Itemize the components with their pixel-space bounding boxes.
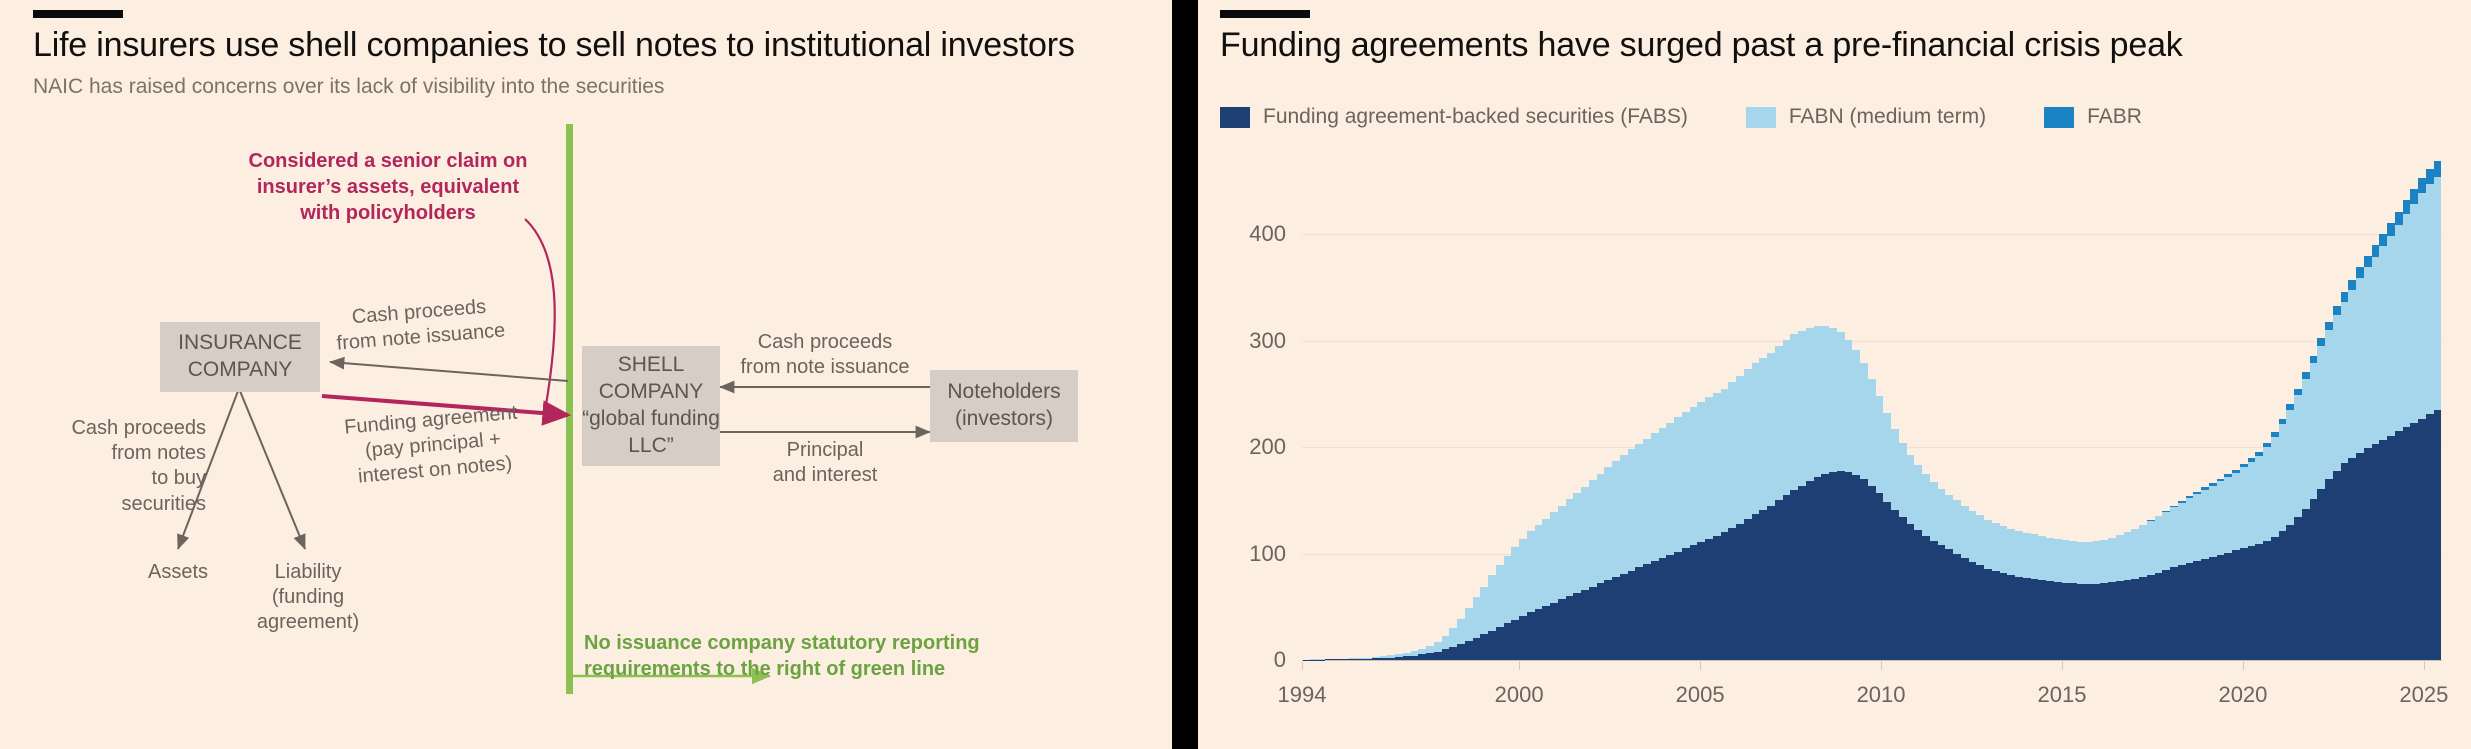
bar-segment xyxy=(2403,214,2411,427)
bar-segment xyxy=(2333,471,2341,660)
table-row xyxy=(1558,160,1566,660)
bar-segment xyxy=(1659,428,1667,558)
bar-segment xyxy=(1790,490,1798,660)
bar-segment xyxy=(1845,472,1853,660)
bar-segment xyxy=(1798,331,1806,485)
bar-segment xyxy=(1790,334,1798,489)
bar-segment xyxy=(2310,499,2318,660)
bar-segment xyxy=(2434,410,2442,660)
bar-segment xyxy=(2341,302,2349,464)
table-row xyxy=(2116,160,2124,660)
bar-segment xyxy=(2054,539,2062,582)
bar-segment xyxy=(2170,507,2178,568)
bar-segment xyxy=(1442,636,1450,650)
x-axis-tickmark xyxy=(2424,660,2425,670)
table-row xyxy=(2286,160,2294,660)
bar-segment xyxy=(2410,423,2418,660)
bar-segment xyxy=(2116,581,2124,660)
label-cash-proceeds-note-issuance-right: Cash proceeds from note issuance xyxy=(725,330,925,380)
bar-segment xyxy=(1690,545,1698,660)
table-row xyxy=(2038,160,2046,660)
table-row xyxy=(1628,160,1636,660)
bar-segment xyxy=(1651,433,1659,561)
annotation-senior-claim: Considered a senior claim on insurer’s a… xyxy=(238,148,538,226)
bar-segment xyxy=(1519,616,1527,660)
bar-segment xyxy=(1938,545,1946,660)
bar-segment xyxy=(2364,256,2372,267)
bar-segment xyxy=(1387,658,1395,660)
legend-item-fabs[interactable]: Funding agreement-backed securities (FAB… xyxy=(1220,105,1688,129)
bar-segment xyxy=(1736,376,1744,524)
bar-segment xyxy=(1449,628,1457,647)
bar-segment xyxy=(1806,481,1814,660)
x-axis-tick-2010: 2010 xyxy=(1857,682,1906,708)
bar-segment xyxy=(2379,234,2387,246)
table-row xyxy=(1496,160,1504,660)
table-row xyxy=(1961,160,1969,660)
bar-segment xyxy=(1922,474,1930,536)
bar-segment xyxy=(2186,498,2194,563)
bar-segment xyxy=(2085,584,2093,660)
bar-segment xyxy=(1449,647,1457,660)
bar-segment xyxy=(1821,326,1829,474)
legend-item-fabn[interactable]: FABN (medium term) xyxy=(1746,105,1986,129)
table-row xyxy=(1403,160,1411,660)
table-row xyxy=(1612,160,1620,660)
table-row xyxy=(1411,160,1419,660)
bar-segment xyxy=(1783,495,1791,660)
table-row xyxy=(1744,160,1752,660)
table-row xyxy=(1837,160,1845,660)
bar-segment xyxy=(2434,177,2442,410)
bar-segment xyxy=(2364,267,2372,448)
table-row xyxy=(2248,160,2256,660)
bar-segment xyxy=(1775,346,1783,500)
bar-segment xyxy=(1457,619,1465,645)
table-row xyxy=(1511,160,1519,660)
bar-segment xyxy=(1457,644,1465,660)
table-row xyxy=(1535,160,1543,660)
bar-segment xyxy=(1581,590,1589,660)
table-row xyxy=(2224,160,2232,660)
bar-segment xyxy=(1558,506,1566,600)
table-row xyxy=(1852,160,1860,660)
node-noteholders[interactable]: Noteholders (investors) xyxy=(930,370,1078,442)
bar-segment xyxy=(1837,471,1845,660)
table-row xyxy=(1682,160,1690,660)
x-axis-tick-2020: 2020 xyxy=(2218,682,2267,708)
bar-segment xyxy=(1705,539,1713,660)
table-row xyxy=(1643,160,1651,660)
x-axis-tick-2015: 2015 xyxy=(2038,682,2087,708)
bar-segment xyxy=(1930,541,1938,660)
bar-segment xyxy=(2232,473,2240,551)
bar-segment xyxy=(1953,554,1961,660)
bar-segment xyxy=(1914,465,1922,530)
bar-segment xyxy=(1922,536,1930,660)
table-row xyxy=(1434,160,1442,660)
table-row xyxy=(2062,160,2070,660)
bar-segment xyxy=(1566,596,1574,660)
table-row xyxy=(1697,160,1705,660)
table-row xyxy=(2410,160,2418,660)
table-row xyxy=(1907,160,1915,660)
table-row xyxy=(2015,160,2023,660)
table-row xyxy=(1504,160,1512,660)
table-row xyxy=(1821,160,1829,660)
table-row xyxy=(1728,160,1736,660)
table-row xyxy=(1992,160,2000,660)
bar-segment xyxy=(2193,494,2201,561)
table-row xyxy=(2263,160,2271,660)
table-row xyxy=(1349,160,1357,660)
legend-item-fabr[interactable]: FABR xyxy=(2044,105,2142,129)
bar-segment xyxy=(1976,565,1984,660)
bar-segment xyxy=(1542,606,1550,660)
bar-segment xyxy=(2395,431,2403,660)
y-axis-tick-100: 100 xyxy=(1249,541,1286,567)
bar-segment xyxy=(2356,267,2364,278)
table-row xyxy=(2131,160,2139,660)
table-row xyxy=(2054,160,2062,660)
bar-segment xyxy=(1403,656,1411,660)
bar-segment xyxy=(2410,204,2418,423)
bar-segment xyxy=(2255,456,2263,544)
bar-segment xyxy=(1984,520,1992,569)
bar-segment xyxy=(1581,487,1589,590)
bar-segment xyxy=(1883,413,1891,501)
label-cash-proceeds-note-issuance-left: Cash proceeds from note issuance xyxy=(318,292,521,358)
table-row xyxy=(2209,160,2217,660)
table-row xyxy=(1635,160,1643,660)
bar-segment xyxy=(2317,489,2325,660)
table-row xyxy=(1775,160,1783,660)
bar-segment xyxy=(2093,584,2101,660)
bar-segment xyxy=(2434,161,2442,177)
table-row xyxy=(1953,160,1961,660)
bar-segment xyxy=(2077,584,2085,660)
bar-segment xyxy=(2387,436,2395,660)
table-row xyxy=(1767,160,1775,660)
bar-segment xyxy=(1775,500,1783,660)
label-assets: Assets xyxy=(118,560,238,585)
panel-divider xyxy=(1172,0,1198,749)
bar-segment xyxy=(1573,593,1581,660)
bar-segment xyxy=(1620,455,1628,574)
bar-segment xyxy=(1860,479,1868,660)
bar-segment xyxy=(2255,544,2263,660)
flow-diagram: Considered a senior claim on insurer’s a… xyxy=(0,0,1172,749)
table-row xyxy=(2255,160,2263,660)
bar-segment xyxy=(1628,571,1636,660)
table-row xyxy=(1418,160,1426,660)
bar-segment xyxy=(1496,627,1504,660)
bar-segment xyxy=(2317,346,2325,489)
table-row xyxy=(2240,160,2248,660)
bar-segment xyxy=(2310,356,2318,363)
table-row xyxy=(2023,160,2031,660)
table-row xyxy=(1984,160,1992,660)
table-row xyxy=(1426,160,1434,660)
right-panel-chart: Funding agreements have surged past a pr… xyxy=(1198,0,2471,749)
table-row xyxy=(1922,160,1930,660)
bar-segment xyxy=(1666,555,1674,660)
bar-segment xyxy=(2224,477,2232,553)
table-row xyxy=(2294,160,2302,660)
bar-segment xyxy=(1752,363,1760,514)
bar-segment xyxy=(1628,449,1636,570)
table-row xyxy=(2069,160,2077,660)
bar-segment xyxy=(2131,579,2139,660)
bar-segment xyxy=(2248,462,2256,546)
bar-segment xyxy=(2170,567,2178,660)
bar-segment xyxy=(1542,519,1550,606)
table-row xyxy=(2100,160,2108,660)
bar-segment xyxy=(2147,575,2155,660)
bar-segment xyxy=(1814,326,1822,477)
bar-segment xyxy=(2418,419,2426,660)
bar-segment xyxy=(2062,540,2070,583)
bar-segment xyxy=(2077,542,2085,583)
bar-segment xyxy=(2186,563,2194,660)
bar-segment xyxy=(2085,542,2093,584)
table-row xyxy=(1891,160,1899,660)
table-row xyxy=(2395,160,2403,660)
bar-segment xyxy=(1411,656,1419,660)
bar-segment xyxy=(1821,474,1829,660)
bar-segment xyxy=(2248,546,2256,660)
table-row xyxy=(2403,160,2411,660)
table-row xyxy=(1442,160,1450,660)
bar-segment xyxy=(1976,515,1984,565)
bar-segment xyxy=(1914,530,1922,660)
bar-segment xyxy=(2162,512,2170,571)
x-axis-tick-2000: 2000 xyxy=(1495,682,1544,708)
table-row xyxy=(1721,160,1729,660)
bar-segment xyxy=(2062,583,2070,660)
table-row xyxy=(2077,160,2085,660)
table-row xyxy=(2418,160,2426,660)
bar-segment xyxy=(1674,552,1682,661)
bar-segment xyxy=(1372,658,1380,660)
bar-segment xyxy=(1697,402,1705,542)
bar-segment xyxy=(2162,570,2170,660)
x-axis-tickmark xyxy=(2062,660,2063,670)
bar-segment xyxy=(2046,538,2054,582)
bar-segment xyxy=(2263,541,2271,660)
bar-segment xyxy=(1620,574,1628,660)
bar-segment xyxy=(2131,529,2139,579)
table-row xyxy=(1457,160,1465,660)
bar-segment xyxy=(1837,332,1845,470)
right-panel-title: Funding agreements have surged past a pr… xyxy=(1220,26,2183,65)
table-row xyxy=(1604,160,1612,660)
bar-segment xyxy=(1426,653,1434,660)
bar-segment xyxy=(1674,417,1682,551)
bar-segment xyxy=(1488,631,1496,660)
bar-segment xyxy=(2178,503,2186,566)
bar-segment xyxy=(2372,257,2380,444)
label-liability: Liability (funding agreement) xyxy=(245,560,371,636)
bar-segment xyxy=(1899,517,1907,660)
table-row xyxy=(1783,160,1791,660)
bar-segment xyxy=(2263,447,2271,541)
title-rule-right xyxy=(1220,10,1310,18)
table-row xyxy=(2178,160,2186,660)
bar-segment xyxy=(1992,571,2000,660)
table-row xyxy=(1519,160,1527,660)
table-row xyxy=(2046,160,2054,660)
bar-segment xyxy=(2372,245,2380,257)
legend-swatch-fabn xyxy=(1746,107,1776,128)
bar-segment xyxy=(1930,482,1938,541)
bar-segment xyxy=(2286,525,2294,660)
table-row xyxy=(1651,160,1659,660)
bar-segment xyxy=(1728,382,1736,528)
bar-segment xyxy=(2023,533,2031,578)
bar-segment xyxy=(1759,510,1767,660)
table-row xyxy=(2310,160,2318,660)
table-row xyxy=(1705,160,1713,660)
table-row xyxy=(2108,160,2116,660)
table-row xyxy=(1938,160,1946,660)
bar-segment xyxy=(2379,246,2387,440)
table-row xyxy=(2387,160,2395,660)
bar-segment xyxy=(2271,437,2279,537)
chart-bars xyxy=(1302,160,2442,660)
bar-segment xyxy=(1496,565,1504,627)
bar-segment xyxy=(2209,557,2217,660)
table-row xyxy=(1620,160,1628,660)
node-shell-company[interactable]: SHELL COMPANY “global funding LLC” xyxy=(582,346,720,466)
bar-segment xyxy=(1961,558,1969,660)
bar-segment xyxy=(1852,475,1860,660)
bar-segment xyxy=(1535,609,1543,660)
table-row xyxy=(2364,160,2372,660)
bar-segment xyxy=(2015,577,2023,660)
bar-segment xyxy=(2023,578,2031,660)
bar-segment xyxy=(2240,548,2248,660)
table-row xyxy=(2155,160,2163,660)
node-insurance-company[interactable]: INSURANCE COMPANY xyxy=(160,322,320,392)
bar-segment xyxy=(1798,486,1806,660)
bar-segment xyxy=(2209,486,2217,557)
bar-segment xyxy=(1697,542,1705,660)
bar-segment xyxy=(1783,340,1791,495)
bar-segment xyxy=(1612,577,1620,660)
table-row xyxy=(2186,160,2194,660)
bar-segment xyxy=(2201,559,2209,660)
y-axis-tick-400: 400 xyxy=(1249,221,1286,247)
bar-segment xyxy=(2139,525,2147,577)
bar-segment xyxy=(1829,328,1837,472)
bar-segment xyxy=(1666,423,1674,555)
bar-segment xyxy=(1364,659,1372,660)
bar-segment xyxy=(1721,389,1729,533)
table-row xyxy=(1690,160,1698,660)
bar-segment xyxy=(2232,550,2240,660)
bar-segment xyxy=(1891,510,1899,660)
table-row xyxy=(1465,160,1473,660)
bar-segment xyxy=(1945,495,1953,549)
table-row xyxy=(1356,160,1364,660)
table-row xyxy=(1976,160,1984,660)
bar-segment xyxy=(2426,169,2434,184)
table-row xyxy=(1930,160,1938,660)
bar-segment xyxy=(2387,223,2395,236)
table-row xyxy=(1310,160,1318,660)
bar-segment xyxy=(2279,531,2287,660)
bar-segment xyxy=(2426,414,2434,660)
y-axis-tick-300: 300 xyxy=(1249,328,1286,354)
table-row xyxy=(1333,160,1341,660)
bar-segment xyxy=(1984,569,1992,660)
table-row xyxy=(1736,160,1744,660)
bar-segment xyxy=(2403,200,2411,214)
bar-segment xyxy=(2325,479,2333,660)
bar-segment xyxy=(1488,575,1496,630)
bar-segment xyxy=(1480,634,1488,660)
bar-segment xyxy=(1891,429,1899,510)
bar-segment xyxy=(1426,646,1434,653)
table-row xyxy=(1814,160,1822,660)
bar-segment xyxy=(1566,499,1574,596)
bar-segment xyxy=(2403,427,2411,660)
bar-segment xyxy=(1945,549,1953,660)
x-axis-tickmark xyxy=(1700,660,1701,670)
bar-segment xyxy=(1860,363,1868,479)
bar-segment xyxy=(2031,579,2039,660)
bar-segment xyxy=(2108,582,2116,660)
bar-segment xyxy=(1767,506,1775,660)
bar-segment xyxy=(1883,502,1891,661)
table-row xyxy=(1542,160,1550,660)
table-row xyxy=(1829,160,1837,660)
x-axis-tick-1994: 1994 xyxy=(1278,682,1327,708)
table-row xyxy=(1387,160,1395,660)
table-row xyxy=(1914,160,1922,660)
bar-segment xyxy=(2093,541,2101,584)
bar-segment xyxy=(2069,541,2077,583)
bar-segment xyxy=(1434,642,1442,652)
bar-segment xyxy=(2240,467,2248,548)
table-row xyxy=(2217,160,2225,660)
x-axis-tick-2005: 2005 xyxy=(1676,682,1725,708)
table-row xyxy=(1341,160,1349,660)
table-row xyxy=(2093,160,2101,660)
table-row xyxy=(1473,160,1481,660)
bar-segment xyxy=(2031,534,2039,579)
table-row xyxy=(2426,160,2434,660)
bar-segment xyxy=(1550,512,1558,602)
bar-segment xyxy=(1612,461,1620,577)
table-row xyxy=(2325,160,2333,660)
table-row xyxy=(1806,160,1814,660)
x-axis-tickmark xyxy=(1519,660,1520,670)
bar-segment xyxy=(2201,490,2209,559)
table-row xyxy=(1302,160,1310,660)
table-row xyxy=(1860,160,1868,660)
table-row xyxy=(1945,160,1953,660)
bar-segment xyxy=(2007,529,2015,575)
bar-segment xyxy=(1573,493,1581,593)
bar-segment xyxy=(1395,657,1403,660)
table-row xyxy=(2031,160,2039,660)
bar-segment xyxy=(1604,580,1612,660)
table-row xyxy=(1488,160,1496,660)
bar-segment xyxy=(2108,538,2116,583)
table-row xyxy=(1790,160,1798,660)
